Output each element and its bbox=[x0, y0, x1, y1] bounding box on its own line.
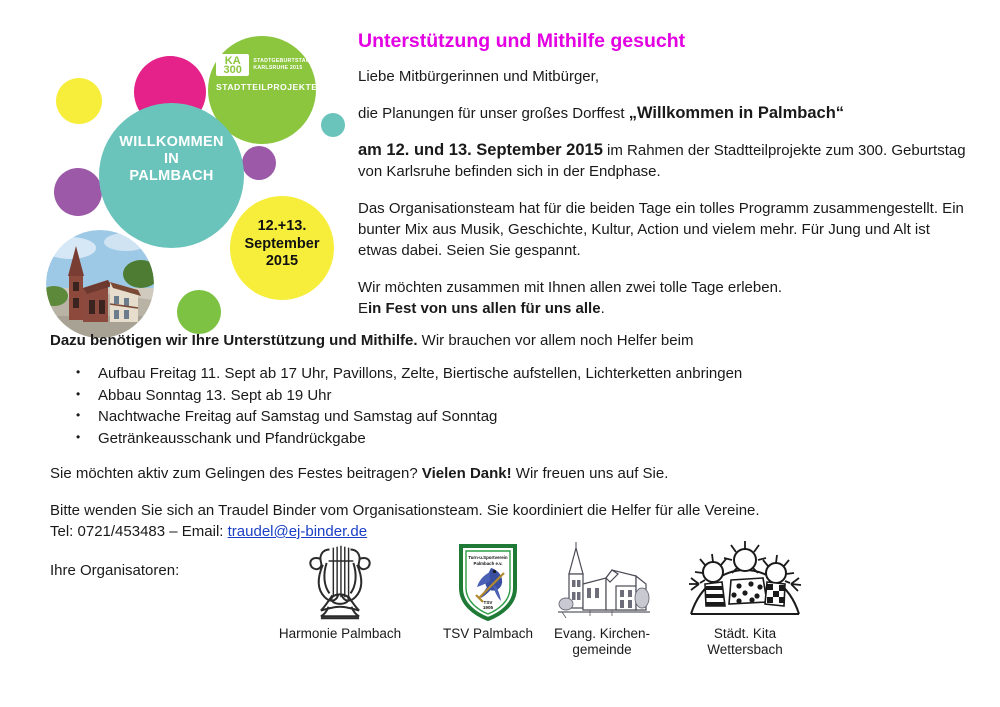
helpers-lead: Dazu benötigen wir Ihre Unterstützung un… bbox=[50, 330, 955, 351]
organiser-caption-line1: Evang. Kirchen- bbox=[538, 626, 666, 642]
decorative-circle-green-small bbox=[177, 290, 221, 334]
organiser-caption: Harmonie Palmbach bbox=[250, 626, 430, 642]
festival-date: am 12. und 13. September 2015 bbox=[358, 141, 603, 159]
programme-text: Das Organisationsteam hat für die beiden… bbox=[358, 200, 964, 259]
logo-date-line3: 2015 bbox=[230, 253, 334, 271]
intro-paragraph: die Planungen für unser großes Dorffest … bbox=[358, 103, 968, 124]
decorative-circle-purple-large bbox=[54, 168, 102, 216]
organiser-logo-strip: Harmonie Palmbach Turn-u.Sportverein Pal… bbox=[250, 540, 830, 675]
ka300-stadtteilprojekte-badge: KA 300 STADTGEBURTSTAG KARLSRUHE 2015 ST… bbox=[216, 54, 310, 102]
decorative-circle-yellow-small bbox=[56, 78, 102, 124]
ka300-mark-line2: 300 bbox=[218, 66, 247, 75]
closing-paragraph: Sie möchten aktiv zum Gelingen des Feste… bbox=[50, 463, 955, 484]
intro-lead-text: die Planungen für unser großes Dorffest bbox=[358, 105, 629, 122]
invitation-paragraph: Wir möchten zusammen mit Ihnen allen zwe… bbox=[358, 277, 968, 319]
helpers-lead-bold: Dazu benötigen wir Ihre Unterstützung un… bbox=[50, 332, 418, 349]
closing-suffix: Wir freuen uns auf Sie. bbox=[512, 465, 669, 482]
invitation-line2-prefix: E bbox=[358, 300, 368, 317]
ka300-sub-line2: KARLSRUHE 2015 bbox=[253, 65, 310, 72]
logo-date-line2: September bbox=[230, 236, 334, 254]
logo-line-palmbach: PALMBACH bbox=[99, 168, 244, 185]
salutation-paragraph: Liebe Mitbürgerinnen und Mitbürger, bbox=[358, 66, 968, 87]
list-item: Getränkeausschank und Pfandrückgabe bbox=[76, 428, 955, 450]
organiser-caption-line1: Städt. Kita bbox=[660, 626, 830, 642]
lyre-icon bbox=[250, 540, 430, 622]
invitation-line2-suffix: . bbox=[601, 300, 605, 317]
ka300-mark-icon: KA 300 bbox=[216, 54, 249, 76]
organiser-tsv-palmbach: Turn-u.Sportverein Palmbach e.v. TSV 190… bbox=[418, 540, 558, 642]
children-icon bbox=[660, 540, 830, 622]
organiser-caption-line2: Wettersbach bbox=[660, 642, 830, 658]
contact-line1: Bitte wenden Sie sich an Traudel Binder … bbox=[50, 502, 760, 519]
ka300-sub-line1: STADTGEBURTSTAG bbox=[253, 58, 310, 65]
list-item: Nachtwache Freitag auf Samstag und Samst… bbox=[76, 406, 955, 428]
contact-email-link[interactable]: traudel@ej-binder.de bbox=[228, 523, 367, 540]
programme-paragraph: Das Organisationsteam hat für die beiden… bbox=[358, 198, 968, 261]
logo-line-in: IN bbox=[99, 151, 244, 168]
date-paragraph: am 12. und 13. September 2015 im Rahmen … bbox=[358, 140, 968, 182]
contact-paragraph: Bitte wenden Sie sich an Traudel Binder … bbox=[50, 500, 955, 542]
logo-main-text: WILLKOMMEN IN PALMBACH bbox=[99, 134, 244, 185]
event-logo-collage: KA 300 STADTGEBURTSTAG KARLSRUHE 2015 ST… bbox=[34, 28, 344, 320]
article-column: Unterstützung und Mithilfe gesucht Liebe… bbox=[358, 30, 968, 335]
helper-tasks-list: Aufbau Freitag 11. Sept ab 17 Uhr, Pavil… bbox=[50, 363, 955, 449]
list-item: Abbau Sonntag 13. Sept ab 19 Uhr bbox=[76, 385, 955, 407]
palmbach-church-photo bbox=[46, 230, 154, 338]
organiser-caption: Städt. Kita Wettersbach bbox=[660, 626, 830, 658]
organiser-caption: Evang. Kirchen- gemeinde bbox=[538, 626, 666, 658]
logo-date-text: 12.+13. September 2015 bbox=[230, 218, 334, 271]
list-item: Aufbau Freitag 11. Sept ab 17 Uhr, Pavil… bbox=[76, 363, 955, 385]
organiser-staedt-kita-wettersbach: Städt. Kita Wettersbach bbox=[660, 540, 830, 658]
salutation-text: Liebe Mitbürgerinnen und Mitbürger, bbox=[358, 68, 599, 85]
organiser-harmonie-palmbach: Harmonie Palmbach bbox=[250, 540, 430, 642]
organiser-caption: TSV Palmbach bbox=[418, 626, 558, 642]
helpers-lead-rest: Wir brauchen vor allem noch Helfer beim bbox=[418, 332, 694, 349]
organiser-evang-kirchengemeinde: Evang. Kirchen- gemeinde bbox=[538, 540, 666, 658]
closing-prefix: Sie möchten aktiv zum Gelingen des Feste… bbox=[50, 465, 422, 482]
contact-phone-label: Tel: 0721/453483 – Email: bbox=[50, 523, 228, 540]
ka300-badge-title: STADTTEILPROJEKTE bbox=[216, 82, 310, 92]
invitation-line1: Wir möchten zusammen mit Ihnen allen zwe… bbox=[358, 279, 782, 296]
decorative-circle-purple-small bbox=[242, 146, 276, 180]
organiser-caption-line2: gemeinde bbox=[538, 642, 666, 658]
logo-line-willkommen: WILLKOMMEN bbox=[99, 134, 244, 151]
invitation-line2-bold: in Fest von uns allen für uns alle bbox=[368, 300, 601, 317]
closing-thanks: Vielen Dank! bbox=[422, 465, 512, 482]
decorative-circle-teal-small bbox=[321, 113, 345, 137]
logo-date-line1: 12.+13. bbox=[230, 218, 334, 236]
flyer-page: KA 300 STADTGEBURTSTAG KARLSRUHE 2015 ST… bbox=[0, 0, 1000, 707]
festival-name: „Willkommen in Palmbach“ bbox=[629, 104, 844, 122]
page-title: Unterstützung und Mithilfe gesucht bbox=[358, 30, 968, 52]
crest-line4: 1905 bbox=[483, 605, 494, 610]
crest-line2: Palmbach e.v. bbox=[474, 561, 503, 566]
church-icon bbox=[538, 540, 666, 622]
shield-crest-icon: Turn-u.Sportverein Palmbach e.v. TSV 190… bbox=[418, 540, 558, 622]
crest-line1: Turn-u.Sportverein bbox=[468, 555, 508, 560]
